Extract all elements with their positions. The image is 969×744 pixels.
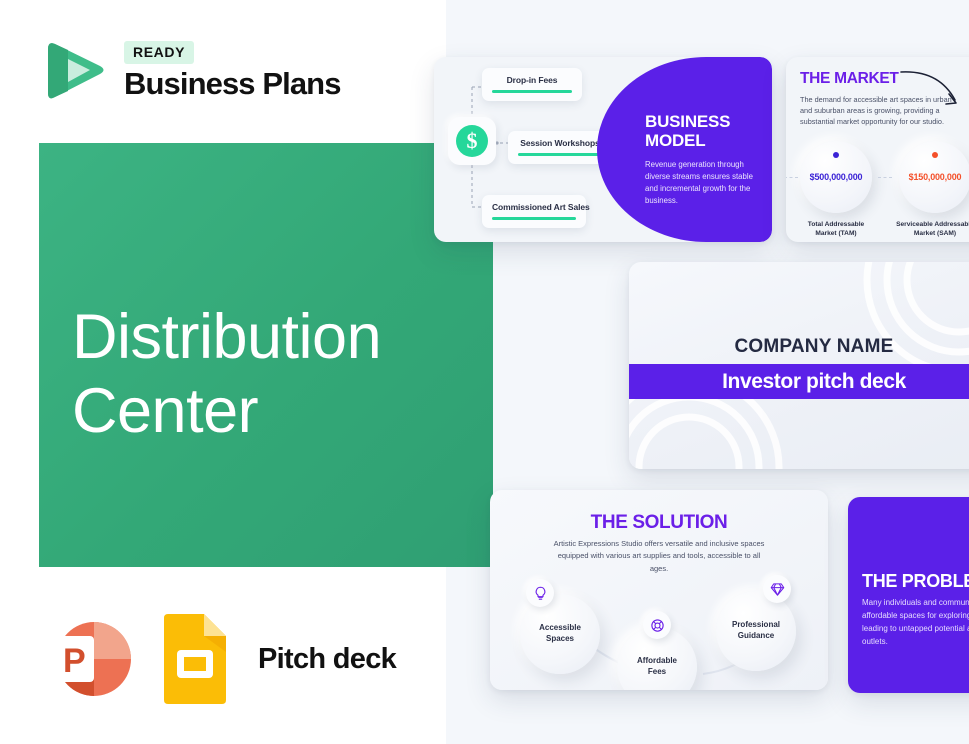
revenue-stream-label: Commissioned Art Sales	[492, 202, 576, 212]
lifebuoy-icon	[643, 611, 671, 639]
metric-value: $500,000,000	[810, 172, 863, 182]
slide-heading: BUSINESS MODEL	[645, 112, 757, 151]
revenue-stream-label: Session Workshops	[518, 138, 602, 148]
dollar-sign-badge: $	[448, 117, 496, 165]
subtitle-label: Investor pitch deck	[722, 370, 906, 394]
slide-heading: THE PROBLEM	[862, 571, 969, 592]
page-title: Distribution Center	[72, 300, 381, 449]
node-label: Accessible Spaces	[539, 623, 581, 645]
solution-nodes: Accessible Spaces Affordable Fees	[490, 578, 828, 688]
solution-node[interactable]: Professional Guidance	[716, 591, 796, 671]
dollar-sign-icon: $	[456, 125, 488, 157]
node-bubble: Accessible Spaces	[520, 594, 600, 674]
google-slides-icon	[158, 612, 230, 706]
node-label: Affordable Fees	[637, 656, 677, 678]
lightbulb-icon	[526, 579, 554, 607]
revenue-stream-label: Drop-in Fees	[492, 75, 572, 85]
slide-the-market[interactable]: THE MARKET The demand for accessible art…	[786, 57, 969, 242]
accent-bar	[518, 153, 602, 156]
solution-node[interactable]: Accessible Spaces	[520, 594, 600, 674]
node-bubble: Affordable Fees	[617, 627, 697, 690]
slide-company-name[interactable]: COMPANY NAME Investor pitch deck	[629, 262, 969, 469]
metric-circle: $150,000,000	[899, 141, 969, 213]
metric-divider	[878, 177, 892, 178]
curved-arrow-icon	[899, 62, 969, 110]
metric-caption: Serviceable Addressable Market (SAM)	[891, 220, 969, 238]
market-metrics: $500,000,000 Total Addressable Market (T…	[792, 141, 969, 238]
play-triangle-logo-icon	[38, 33, 110, 109]
metric-value: $150,000,000	[909, 172, 962, 182]
marker-dot-icon	[833, 152, 839, 158]
slide-heading: THE SOLUTION	[490, 512, 828, 534]
ready-badge: READY	[124, 41, 194, 64]
metric-circle: $500,000,000	[800, 141, 872, 213]
slide-body: Revenue generation through diverse strea…	[645, 159, 757, 207]
subtitle-band: Investor pitch deck	[629, 364, 969, 399]
revenue-stream-chip[interactable]: Commissioned Art Sales	[482, 195, 586, 228]
revenue-stream-chip[interactable]: Drop-in Fees	[482, 68, 582, 101]
company-name-label: COMPANY NAME	[629, 336, 969, 358]
brand-lockup: READY Business Plans	[38, 33, 341, 109]
slide-business-model[interactable]: $ Drop-in Fees Session Workshops Commiss…	[434, 57, 772, 242]
brand-title: Business Plans	[124, 67, 341, 101]
node-bubble: Professional Guidance	[716, 591, 796, 671]
format-label: Pitch deck	[258, 643, 396, 676]
diamond-icon	[763, 575, 791, 603]
solution-node[interactable]: Affordable Fees	[617, 627, 697, 690]
svg-text:P: P	[63, 642, 86, 680]
format-row: P Pitch deck	[42, 612, 396, 706]
metric-divider	[786, 177, 798, 178]
poster-canvas: READY Business Plans Distribution Center…	[0, 0, 969, 744]
slide-the-solution[interactable]: THE SOLUTION Artistic Expressions Studio…	[490, 490, 828, 690]
powerpoint-icon: P	[42, 612, 136, 706]
slide-body: Many individuals and communities lack ac…	[862, 597, 969, 649]
slide-the-problem[interactable]: THE PROBLEM Many individuals and communi…	[848, 497, 969, 693]
slide-body: Artistic Expressions Studio offers versa…	[550, 538, 768, 575]
metric-caption: Total Addressable Market (TAM)	[792, 220, 880, 238]
market-metric-sam[interactable]: $150,000,000 Serviceable Addressable Mar…	[891, 141, 969, 238]
accent-bar	[492, 90, 572, 93]
accent-bar	[492, 217, 576, 220]
marker-dot-icon	[932, 152, 938, 158]
market-metric-tam[interactable]: $500,000,000 Total Addressable Market (T…	[792, 141, 880, 238]
node-label: Professional Guidance	[732, 620, 780, 642]
